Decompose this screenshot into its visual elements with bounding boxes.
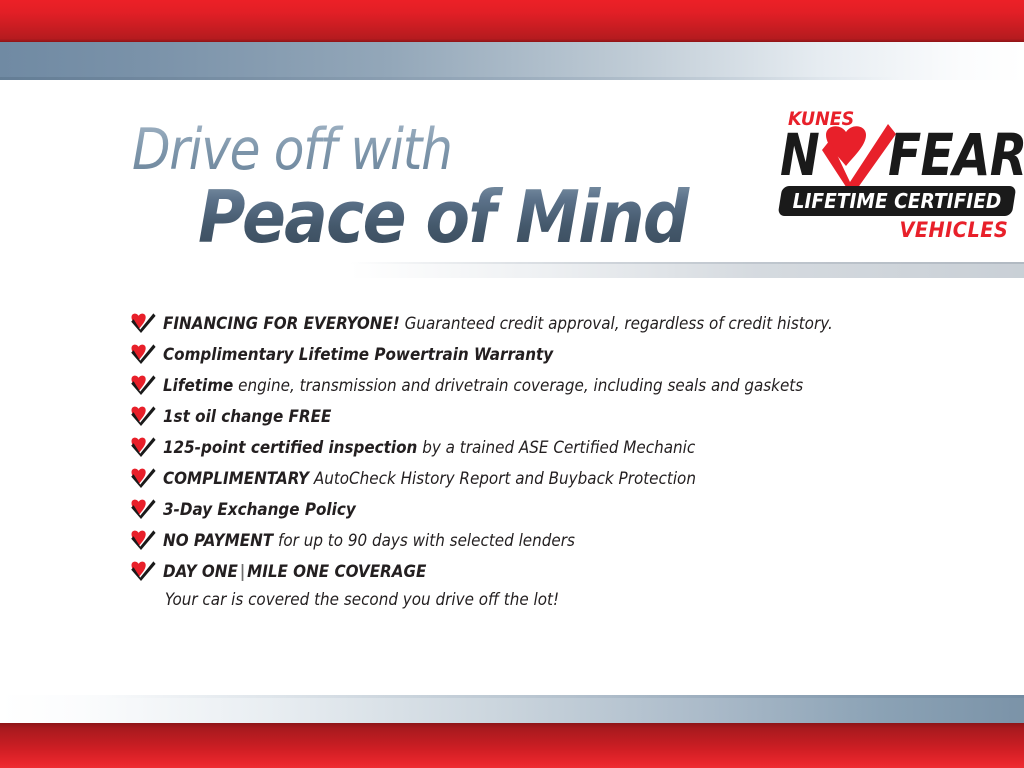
benefit-lead-mile-one: MILE ONE COVERAGE — [247, 562, 426, 581]
benefit-rest: by a trained ASE Certified Mechanic — [417, 438, 695, 457]
heart-check-icon — [130, 374, 156, 395]
headline-line-2: Peace of Mind — [198, 181, 697, 254]
heart-check-icon — [130, 405, 156, 426]
benefit-item-oil-change: 1st oil change FREE — [130, 401, 930, 432]
benefit-rest: AutoCheck History Report and Buyback Pro… — [309, 469, 696, 488]
headline-line-1: Drive off with — [132, 122, 678, 179]
logo-certified-text: LIFETIME CERTIFIED — [788, 186, 1006, 216]
benefit-item-day-one-mile-one: DAY ONE|MILE ONE COVERAGE Your car is co… — [130, 556, 930, 613]
benefit-lead: FINANCING FOR EVERYONE! — [163, 314, 400, 333]
bottom-gray-band — [0, 695, 1024, 723]
benefit-item-autocheck: COMPLIMENTARY AutoCheck History Report a… — [130, 463, 930, 494]
heart-check-icon — [130, 343, 156, 364]
benefit-text: NO PAYMENT for up to 90 days with select… — [163, 525, 869, 556]
benefit-separator: | — [238, 562, 247, 581]
heart-check-icon — [130, 498, 156, 519]
benefit-text: DAY ONE|MILE ONE COVERAGE — [163, 556, 869, 587]
benefit-lead-day-one: DAY ONE — [163, 562, 238, 581]
benefit-item-exchange-policy: 3-Day Exchange Policy — [130, 494, 930, 525]
benefit-subtext: Your car is covered the second you drive… — [163, 587, 869, 613]
logo-letter-n: N — [780, 126, 820, 184]
headline-block: Drive off with Peace of Mind — [132, 122, 752, 254]
benefit-text: 1st oil change FREE — [163, 401, 869, 432]
headline-divider — [350, 262, 1024, 278]
heart-check-icon — [820, 122, 896, 196]
benefit-item-powertrain-warranty: Complimentary Lifetime Powertrain Warran… — [130, 339, 930, 370]
benefit-item-no-payment: NO PAYMENT for up to 90 days with select… — [130, 525, 930, 556]
heart-check-icon — [130, 312, 156, 333]
benefit-item-financing: FINANCING FOR EVERYONE! Guaranteed credi… — [130, 308, 930, 339]
benefit-lead: Lifetime — [163, 376, 233, 395]
benefit-item-inspection: 125-point certified inspection by a trai… — [130, 432, 930, 463]
logo-wordmark: N FEAR — [778, 128, 1016, 186]
benefit-text: Complimentary Lifetime Powertrain Warran… — [163, 339, 869, 370]
top-gray-band — [0, 42, 1024, 80]
benefit-rest: for up to 90 days with selected lenders — [273, 531, 575, 550]
benefit-lead: NO PAYMENT — [163, 531, 273, 550]
benefit-lead: COMPLIMENTARY — [163, 469, 309, 488]
benefit-lead: 3-Day Exchange Policy — [163, 500, 356, 519]
bottom-red-band — [0, 723, 1024, 768]
heart-check-icon — [130, 560, 156, 581]
benefits-list: FINANCING FOR EVERYONE! Guaranteed credi… — [130, 308, 930, 613]
benefit-text: COMPLIMENTARY AutoCheck History Report a… — [163, 463, 869, 494]
benefit-text: FINANCING FOR EVERYONE! Guaranteed credi… — [163, 308, 869, 339]
benefit-item-lifetime-coverage: Lifetime engine, transmission and drivet… — [130, 370, 930, 401]
heart-check-icon — [130, 436, 156, 457]
benefit-lead: 1st oil change FREE — [163, 407, 331, 426]
benefit-rest: Guaranteed credit approval, regardless o… — [400, 314, 833, 333]
logo-word-fear: FEAR — [888, 126, 1024, 184]
heart-check-icon — [130, 529, 156, 550]
logo-vehicles-text: VEHICLES — [899, 218, 1008, 242]
top-red-band — [0, 0, 1024, 42]
benefit-text: 125-point certified inspection by a trai… — [163, 432, 869, 463]
promotional-poster: Drive off with Peace of Mind KUNES N FEA… — [0, 0, 1024, 768]
kunes-no-fear-logo: KUNES N FEAR LIFETIME CERTIFIED VEHICLES — [778, 108, 1016, 244]
benefit-text: 3-Day Exchange Policy — [163, 494, 869, 525]
benefit-rest: engine, transmission and drivetrain cove… — [233, 376, 803, 395]
heart-check-icon — [130, 467, 156, 488]
benefit-lead: Complimentary Lifetime Powertrain Warran… — [163, 345, 553, 364]
benefit-lead: 125-point certified inspection — [163, 438, 417, 457]
benefit-text: Lifetime engine, transmission and drivet… — [163, 370, 869, 401]
